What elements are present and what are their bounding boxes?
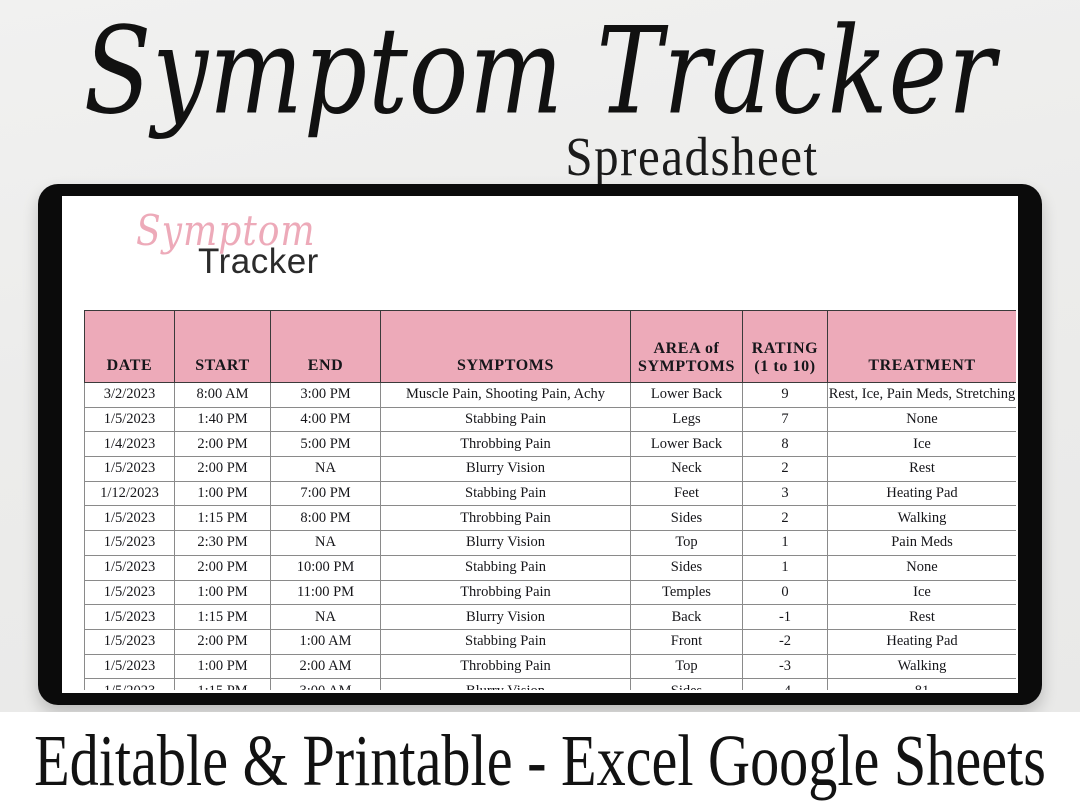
sheet-logo-plain: Tracker bbox=[198, 244, 319, 279]
symptom-table[interactable]: DATESTARTENDSYMPTOMSAREA ofSYMPTOMSRATIN… bbox=[84, 310, 1016, 690]
cell-date[interactable]: 3/2/2023 bbox=[85, 383, 175, 408]
cell-end[interactable]: 7:00 PM bbox=[271, 481, 381, 506]
cell-date[interactable]: 1/5/2023 bbox=[85, 457, 175, 482]
footer-band: Editable & Printable - Excel Google Shee… bbox=[0, 712, 1080, 810]
cell-end[interactable]: NA bbox=[271, 457, 381, 482]
cell-date[interactable]: 1/12/2023 bbox=[85, 481, 175, 506]
cell-rating[interactable]: 1 bbox=[743, 555, 828, 580]
cell-rating[interactable]: -2 bbox=[743, 629, 828, 654]
column-header-date[interactable]: DATE bbox=[85, 311, 175, 383]
cell-treatment[interactable]: Walking bbox=[828, 654, 1017, 679]
cell-symptoms[interactable]: Stabbing Pain bbox=[381, 481, 631, 506]
column-header-start[interactable]: START bbox=[175, 311, 271, 383]
cell-area[interactable]: Temples bbox=[631, 580, 743, 605]
table-row[interactable]: 1/5/20232:00 PMNABlurry VisionNeck2Rest bbox=[85, 457, 1017, 482]
table-row[interactable]: 1/5/20231:15 PMNABlurry VisionBack-1Rest bbox=[85, 605, 1017, 630]
cell-start[interactable]: 2:00 PM bbox=[175, 555, 271, 580]
table-row[interactable]: 1/5/20231:00 PM2:00 AMThrobbing PainTop-… bbox=[85, 654, 1017, 679]
cell-date[interactable]: 1/5/2023 bbox=[85, 679, 175, 690]
cell-treatment[interactable]: Heating Pad bbox=[828, 481, 1017, 506]
cell-end[interactable]: 3:00 PM bbox=[271, 383, 381, 408]
cell-start[interactable]: 1:00 PM bbox=[175, 580, 271, 605]
cell-end[interactable]: NA bbox=[271, 531, 381, 556]
column-header-end[interactable]: END bbox=[271, 311, 381, 383]
cell-date[interactable]: 1/4/2023 bbox=[85, 432, 175, 457]
cell-rating[interactable]: 8 bbox=[743, 432, 828, 457]
cell-treatment[interactable]: Ice bbox=[828, 432, 1017, 457]
cell-treatment[interactable]: Heating Pad bbox=[828, 629, 1017, 654]
cell-end[interactable]: 3:00 AM bbox=[271, 679, 381, 690]
column-header-area[interactable]: AREA ofSYMPTOMS bbox=[631, 311, 743, 383]
table-body[interactable]: 3/2/20238:00 AM3:00 PMMuscle Pain, Shoot… bbox=[85, 383, 1017, 691]
cell-start[interactable]: 1:15 PM bbox=[175, 605, 271, 630]
cell-rating[interactable]: -4 bbox=[743, 679, 828, 690]
cell-treatment[interactable]: Rest, Ice, Pain Meds, Stretching bbox=[828, 383, 1017, 408]
cell-start[interactable]: 1:15 PM bbox=[175, 506, 271, 531]
table-header: DATESTARTENDSYMPTOMSAREA ofSYMPTOMSRATIN… bbox=[85, 311, 1017, 383]
cell-symptoms[interactable]: Throbbing Pain bbox=[381, 654, 631, 679]
cell-area[interactable]: Legs bbox=[631, 407, 743, 432]
cell-end[interactable]: 10:00 PM bbox=[271, 555, 381, 580]
column-header-line: DATE bbox=[107, 357, 153, 374]
cell-rating[interactable]: 0 bbox=[743, 580, 828, 605]
cell-rating[interactable]: 9 bbox=[743, 383, 828, 408]
cell-treatment[interactable]: Rest bbox=[828, 457, 1017, 482]
cell-end[interactable]: 8:00 PM bbox=[271, 506, 381, 531]
cell-symptoms[interactable]: Blurry Vision bbox=[381, 679, 631, 690]
column-header-line: (1 to 10) bbox=[754, 358, 815, 375]
cell-treatment[interactable]: 81 bbox=[828, 679, 1017, 690]
cell-start[interactable]: 1:15 PM bbox=[175, 679, 271, 690]
table-row[interactable]: 1/5/20231:40 PM4:00 PMStabbing PainLegs7… bbox=[85, 407, 1017, 432]
spreadsheet-screen: Symptom Tracker DATESTART bbox=[62, 196, 1018, 693]
table-row[interactable]: 3/2/20238:00 AM3:00 PMMuscle Pain, Shoot… bbox=[85, 383, 1017, 408]
cell-treatment[interactable]: Walking bbox=[828, 506, 1017, 531]
cell-rating[interactable]: 2 bbox=[743, 457, 828, 482]
column-header-line: END bbox=[308, 357, 344, 374]
cell-area[interactable]: Feet bbox=[631, 481, 743, 506]
column-header-line: TREATMENT bbox=[868, 357, 975, 374]
cell-area[interactable]: Top bbox=[631, 654, 743, 679]
cell-end[interactable]: 1:00 AM bbox=[271, 629, 381, 654]
cell-end[interactable]: 11:00 PM bbox=[271, 580, 381, 605]
cell-rating[interactable]: 7 bbox=[743, 407, 828, 432]
column-header-line: SYMPTOMS bbox=[457, 357, 554, 374]
cell-start[interactable]: 2:00 PM bbox=[175, 457, 271, 482]
column-header-treatment[interactable]: TREATMENT bbox=[828, 311, 1017, 383]
cell-symptoms[interactable]: Throbbing Pain bbox=[381, 432, 631, 457]
cell-symptoms[interactable]: Blurry Vision bbox=[381, 457, 631, 482]
cell-end[interactable]: 5:00 PM bbox=[271, 432, 381, 457]
column-header-line: RATING bbox=[752, 340, 818, 357]
cell-treatment[interactable]: Ice bbox=[828, 580, 1017, 605]
table-row[interactable]: 1/5/20231:00 PM11:00 PMThrobbing PainTem… bbox=[85, 580, 1017, 605]
cell-date[interactable]: 1/5/2023 bbox=[85, 407, 175, 432]
cell-symptoms[interactable]: Muscle Pain, Shooting Pain, Achy bbox=[381, 383, 631, 408]
cell-area[interactable]: Back bbox=[631, 605, 743, 630]
column-header-line: SYMPTOMS bbox=[638, 358, 735, 375]
column-header-rating[interactable]: RATING(1 to 10) bbox=[743, 311, 828, 383]
cell-rating[interactable]: 1 bbox=[743, 531, 828, 556]
cell-date[interactable]: 1/5/2023 bbox=[85, 605, 175, 630]
cell-start[interactable]: 8:00 AM bbox=[175, 383, 271, 408]
spreadsheet-grid-wrapper[interactable]: DATESTARTENDSYMPTOMSAREA ofSYMPTOMSRATIN… bbox=[84, 310, 1016, 690]
cell-area[interactable]: Sides bbox=[631, 679, 743, 690]
cell-start[interactable]: 1:00 PM bbox=[175, 481, 271, 506]
column-header-line: START bbox=[195, 357, 250, 374]
cell-date[interactable]: 1/5/2023 bbox=[85, 531, 175, 556]
cell-area[interactable]: Lower Back bbox=[631, 383, 743, 408]
cell-area[interactable]: Neck bbox=[631, 457, 743, 482]
cell-symptoms[interactable]: Throbbing Pain bbox=[381, 506, 631, 531]
sheet-logo: Symptom Tracker bbox=[136, 210, 366, 298]
table-row[interactable]: 1/5/20232:30 PMNABlurry VisionTop1Pain M… bbox=[85, 531, 1017, 556]
table-header-row: DATESTARTENDSYMPTOMSAREA ofSYMPTOMSRATIN… bbox=[85, 311, 1017, 383]
table-row[interactable]: 1/5/20232:00 PM1:00 AMStabbing PainFront… bbox=[85, 629, 1017, 654]
cell-end[interactable]: NA bbox=[271, 605, 381, 630]
cell-symptoms[interactable]: Blurry Vision bbox=[381, 605, 631, 630]
table-row[interactable]: 1/4/20232:00 PM5:00 PMThrobbing PainLowe… bbox=[85, 432, 1017, 457]
cell-start[interactable]: 1:40 PM bbox=[175, 407, 271, 432]
cell-rating[interactable]: -3 bbox=[743, 654, 828, 679]
cell-treatment[interactable]: Pain Meds bbox=[828, 531, 1017, 556]
cell-rating[interactable]: 3 bbox=[743, 481, 828, 506]
footer-caption: Editable & Printable - Excel Google Shee… bbox=[16, 724, 1064, 797]
column-header-line: AREA of bbox=[654, 340, 720, 357]
cell-date[interactable]: 1/5/2023 bbox=[85, 654, 175, 679]
cell-symptoms[interactable]: Stabbing Pain bbox=[381, 629, 631, 654]
cell-area[interactable]: Lower Back bbox=[631, 432, 743, 457]
column-header-symptoms[interactable]: SYMPTOMS bbox=[381, 311, 631, 383]
cell-symptoms[interactable]: Blurry Vision bbox=[381, 531, 631, 556]
cell-area[interactable]: Sides bbox=[631, 555, 743, 580]
cell-start[interactable]: 2:30 PM bbox=[175, 531, 271, 556]
cell-date[interactable]: 1/5/2023 bbox=[85, 629, 175, 654]
device-frame: Symptom Tracker DATESTART bbox=[38, 184, 1042, 705]
cell-treatment[interactable]: None bbox=[828, 407, 1017, 432]
cell-symptoms[interactable]: Stabbing Pain bbox=[381, 555, 631, 580]
cell-start[interactable]: 2:00 PM bbox=[175, 432, 271, 457]
cell-rating[interactable]: 2 bbox=[743, 506, 828, 531]
cell-end[interactable]: 2:00 AM bbox=[271, 654, 381, 679]
table-row[interactable]: 1/5/20231:15 PM8:00 PMThrobbing PainSide… bbox=[85, 506, 1017, 531]
cell-end[interactable]: 4:00 PM bbox=[271, 407, 381, 432]
cell-area[interactable]: Top bbox=[631, 531, 743, 556]
poster-root: Symptom Tracker Spreadsheet Symptom Trac… bbox=[0, 0, 1080, 810]
table-row[interactable]: 1/5/20232:00 PM10:00 PMStabbing PainSide… bbox=[85, 555, 1017, 580]
cell-date[interactable]: 1/5/2023 bbox=[85, 506, 175, 531]
cell-start[interactable]: 2:00 PM bbox=[175, 629, 271, 654]
table-row[interactable]: 1/5/20231:15 PM3:00 AMBlurry VisionSides… bbox=[85, 679, 1017, 690]
cell-start[interactable]: 1:00 PM bbox=[175, 654, 271, 679]
cell-date[interactable]: 1/5/2023 bbox=[85, 555, 175, 580]
table-row[interactable]: 1/12/20231:00 PM7:00 PMStabbing PainFeet… bbox=[85, 481, 1017, 506]
cell-rating[interactable]: -1 bbox=[743, 605, 828, 630]
cell-area[interactable]: Front bbox=[631, 629, 743, 654]
cell-treatment[interactable]: None bbox=[828, 555, 1017, 580]
cell-treatment[interactable]: Rest bbox=[828, 605, 1017, 630]
cell-symptoms[interactable]: Throbbing Pain bbox=[381, 580, 631, 605]
cell-area[interactable]: Sides bbox=[631, 506, 743, 531]
cell-date[interactable]: 1/5/2023 bbox=[85, 580, 175, 605]
cell-symptoms[interactable]: Stabbing Pain bbox=[381, 407, 631, 432]
